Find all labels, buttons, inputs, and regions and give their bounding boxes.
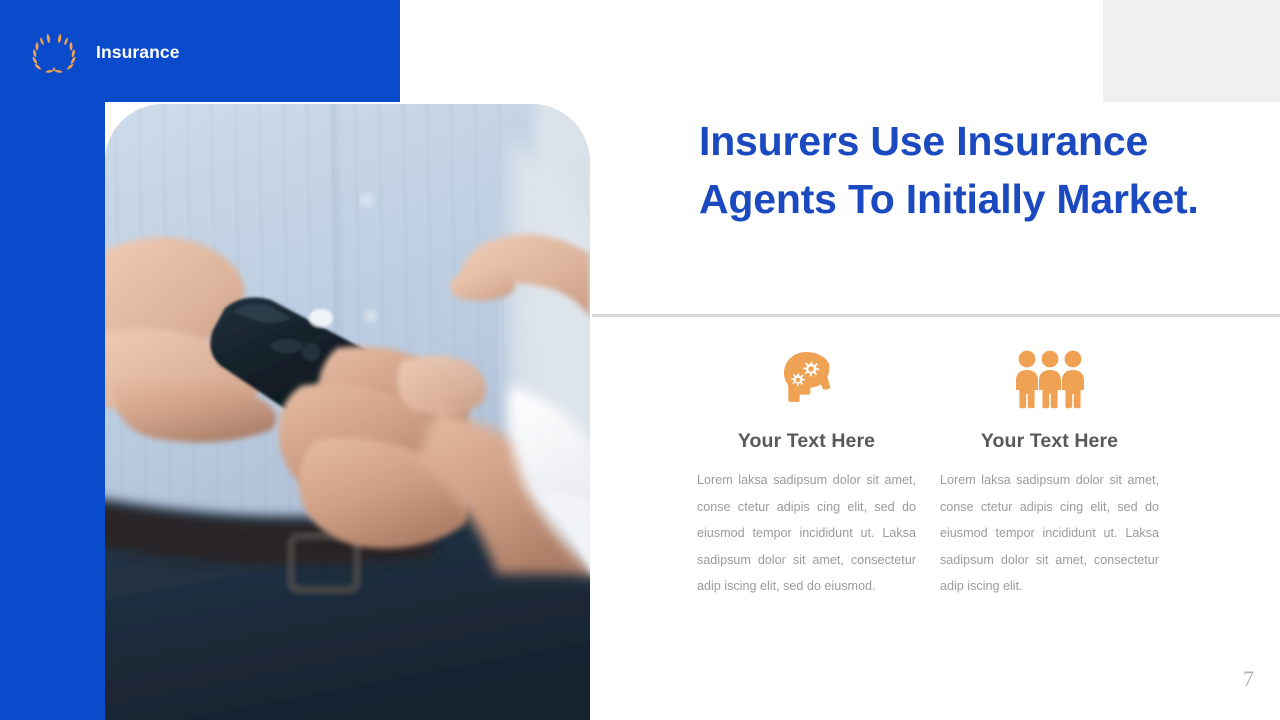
laurel-wreath-icon xyxy=(26,24,82,80)
feature-body: Lorem laksa sadipsum dolor sit amet, con… xyxy=(697,467,916,600)
head-with-gears-icon xyxy=(697,344,916,416)
page-title: Insurers Use Insurance Agents To Initial… xyxy=(699,112,1219,228)
divider xyxy=(592,314,1280,317)
feature-item: Your Text Here Lorem laksa sadipsum dolo… xyxy=(940,344,1159,600)
feature-title: Your Text Here xyxy=(940,430,1159,453)
left-accent-bar xyxy=(0,102,105,720)
top-right-accent-block xyxy=(1103,0,1280,102)
feature-columns: Your Text Here Lorem laksa sadipsum dolo… xyxy=(697,344,1159,600)
brand-name: Insurance xyxy=(96,42,180,63)
feature-body: Lorem laksa sadipsum dolor sit amet, con… xyxy=(940,467,1159,600)
feature-item: Your Text Here Lorem laksa sadipsum dolo… xyxy=(697,344,916,600)
slide-photo xyxy=(105,104,590,720)
brand-lockup: Insurance xyxy=(26,24,180,80)
page-number: 7 xyxy=(1243,666,1254,692)
three-people-icon xyxy=(940,344,1159,416)
feature-title: Your Text Here xyxy=(697,430,916,453)
